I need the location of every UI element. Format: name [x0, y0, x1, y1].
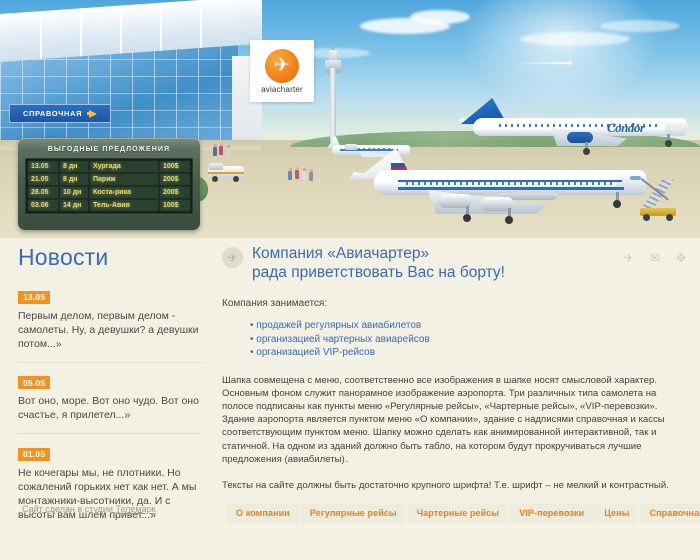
nav-item-regular-flights[interactable]: Регулярные рейсы [301, 503, 406, 524]
service-item[interactable]: продажей регулярных авиабилетов [250, 319, 680, 333]
offer-row: 28.05 10 дн Коста-рика 200$ [28, 187, 190, 198]
news-sidebar: Новости 13.05 Первым делом, первым делом… [18, 244, 204, 543]
offer-destination: Париж [90, 174, 158, 185]
offer-price: 100$ [160, 200, 190, 211]
cloud [410, 10, 470, 24]
offer-row: 03.06 14 дн Тель-Авив 100$ [28, 200, 190, 211]
offers-board-title: ВЫГОДНЫЕ ПРЕДЛОЖЕНИЯ [25, 143, 193, 158]
news-date-badge: 13.05 [18, 291, 50, 304]
logo-wordmark: aviacharter [261, 85, 303, 94]
page-title: Компания «Авиачартер» рада приветствоват… [252, 244, 505, 282]
services-lead-text: Компания занимается: [222, 298, 680, 319]
news-item[interactable]: 13.05 Первым делом, первым делом - самол… [18, 287, 204, 363]
russian-airliner-regular[interactable] [348, 148, 648, 228]
bottom-navigation: О компании Регулярные рейсы Чартерные ре… [227, 503, 700, 524]
offer-destination: Хургада [90, 161, 158, 172]
offer-destination: Коста-рика [90, 187, 158, 198]
main-content: ✈ Компания «Авиачартер» рада приветствов… [222, 244, 680, 505]
footer-credit: Сайт сделан в студии Телемарк [22, 504, 156, 514]
terminal-building[interactable]: СПРАВОЧНАЯ [0, 14, 262, 145]
offers-board-screen: 13.05 8 дн Хургада 100$ 21.05 8 дн Париж… [25, 158, 193, 214]
news-item-text: Вот оно, море. Вот оно чудо. Вот оно сча… [18, 394, 204, 422]
offer-days: 8 дн [60, 161, 88, 172]
info-desk-sign-label: СПРАВОЧНАЯ [23, 109, 82, 118]
plane-logo-icon: ✈ [274, 56, 290, 75]
utility-icon-row: ✈ ✉ ✥ [624, 252, 686, 264]
info-desk-sign[interactable]: СПРАВОЧНАЯ [9, 104, 111, 123]
offer-days: 10 дн [60, 187, 88, 198]
sun-glow [460, 0, 660, 110]
logo-circle: ✈ [265, 49, 299, 83]
mail-icon[interactable]: ✉ [650, 252, 660, 264]
person-figure [302, 168, 306, 180]
page-root: ✈ СПРАВОЧНАЯ [0, 0, 700, 560]
person-figure [309, 169, 313, 181]
special-offers-board[interactable]: ВЫГОДНЫЕ ПРЕДЛОЖЕНИЯ 13.05 8 дн Хургада … [18, 138, 200, 230]
offer-row: 13.05 8 дн Хургада 100$ [28, 161, 190, 172]
offer-days: 8 дн [60, 174, 88, 185]
offer-date: 28.05 [28, 187, 58, 198]
person-figure [219, 143, 223, 155]
news-date-badge: 05.05 [18, 376, 50, 389]
footer-credit-prefix: Сайт сделан в студии [22, 504, 115, 514]
cloud [520, 32, 630, 46]
offer-date: 03.06 [28, 200, 58, 211]
news-date-badge: 01.05 [18, 448, 50, 461]
page-title-line1: Компания «Авиачартер» [252, 245, 429, 262]
nav-item-prices[interactable]: Цены [595, 503, 638, 524]
service-item[interactable]: организацией VIP-рейсов [250, 346, 680, 360]
description-paragraph-1: Шапка совмещена с меню, соответственно в… [222, 374, 680, 479]
nav-item-charter-flights[interactable]: Чартерные рейсы [408, 503, 508, 524]
page-title-line2: рада приветствовать Вас на борту! [252, 264, 505, 281]
offer-price: 200$ [160, 187, 190, 198]
nav-item-info-desk[interactable]: Справочная [640, 503, 700, 524]
sitemap-icon[interactable]: ✥ [676, 252, 686, 264]
plane-icon[interactable]: ✈ [624, 252, 634, 264]
control-tower [325, 46, 341, 142]
plane-badge-icon: ✈ [222, 247, 243, 268]
offer-days: 14 дн [60, 200, 88, 211]
person-figure [226, 145, 230, 157]
nav-item-vip-transport[interactable]: VIP-перевозки [510, 503, 593, 524]
russian-flag-icon [391, 160, 407, 170]
offer-price: 100$ [160, 161, 190, 172]
person-figure [288, 168, 292, 180]
boarding-stairway [640, 180, 680, 222]
news-item[interactable]: 01.05 Не кочегары мы, не плотники. Но со… [18, 444, 204, 533]
cloud [600, 20, 680, 32]
news-heading: Новости [18, 244, 204, 287]
person-figure [213, 144, 217, 156]
offer-date: 13.05 [28, 161, 58, 172]
studio-link[interactable]: Телемарк [115, 504, 155, 514]
distant-plane-icon: ✈ [566, 58, 574, 69]
offer-price: 200$ [160, 174, 190, 185]
person-figure [295, 167, 299, 179]
site-logo[interactable]: ✈ aviacharter [250, 40, 314, 102]
services-list: продажей регулярных авиабилетов организа… [222, 319, 680, 374]
description-paragraph-2: Тексты на сайте должны быть достаточно к… [222, 479, 680, 505]
nav-item-about[interactable]: О компании [227, 503, 299, 524]
service-item[interactable]: организацией чартерных авиарейсов [250, 333, 680, 347]
offer-row: 21.05 8 дн Париж 200$ [28, 174, 190, 185]
contrail [518, 62, 570, 64]
news-item-text: Первым делом, первым делом - самолеты. Н… [18, 309, 204, 351]
news-item[interactable]: 05.05 Вот оно, море. Вот оно чудо. Вот о… [18, 373, 204, 435]
offer-destination: Тель-Авив [90, 200, 158, 211]
offer-date: 21.05 [28, 174, 58, 185]
main-heading-block: ✈ Компания «Авиачартер» рада приветствов… [222, 244, 680, 298]
condor-livery-text: Condor [607, 120, 644, 136]
arrow-right-icon [87, 110, 97, 118]
ground-service-vehicle [208, 163, 244, 181]
